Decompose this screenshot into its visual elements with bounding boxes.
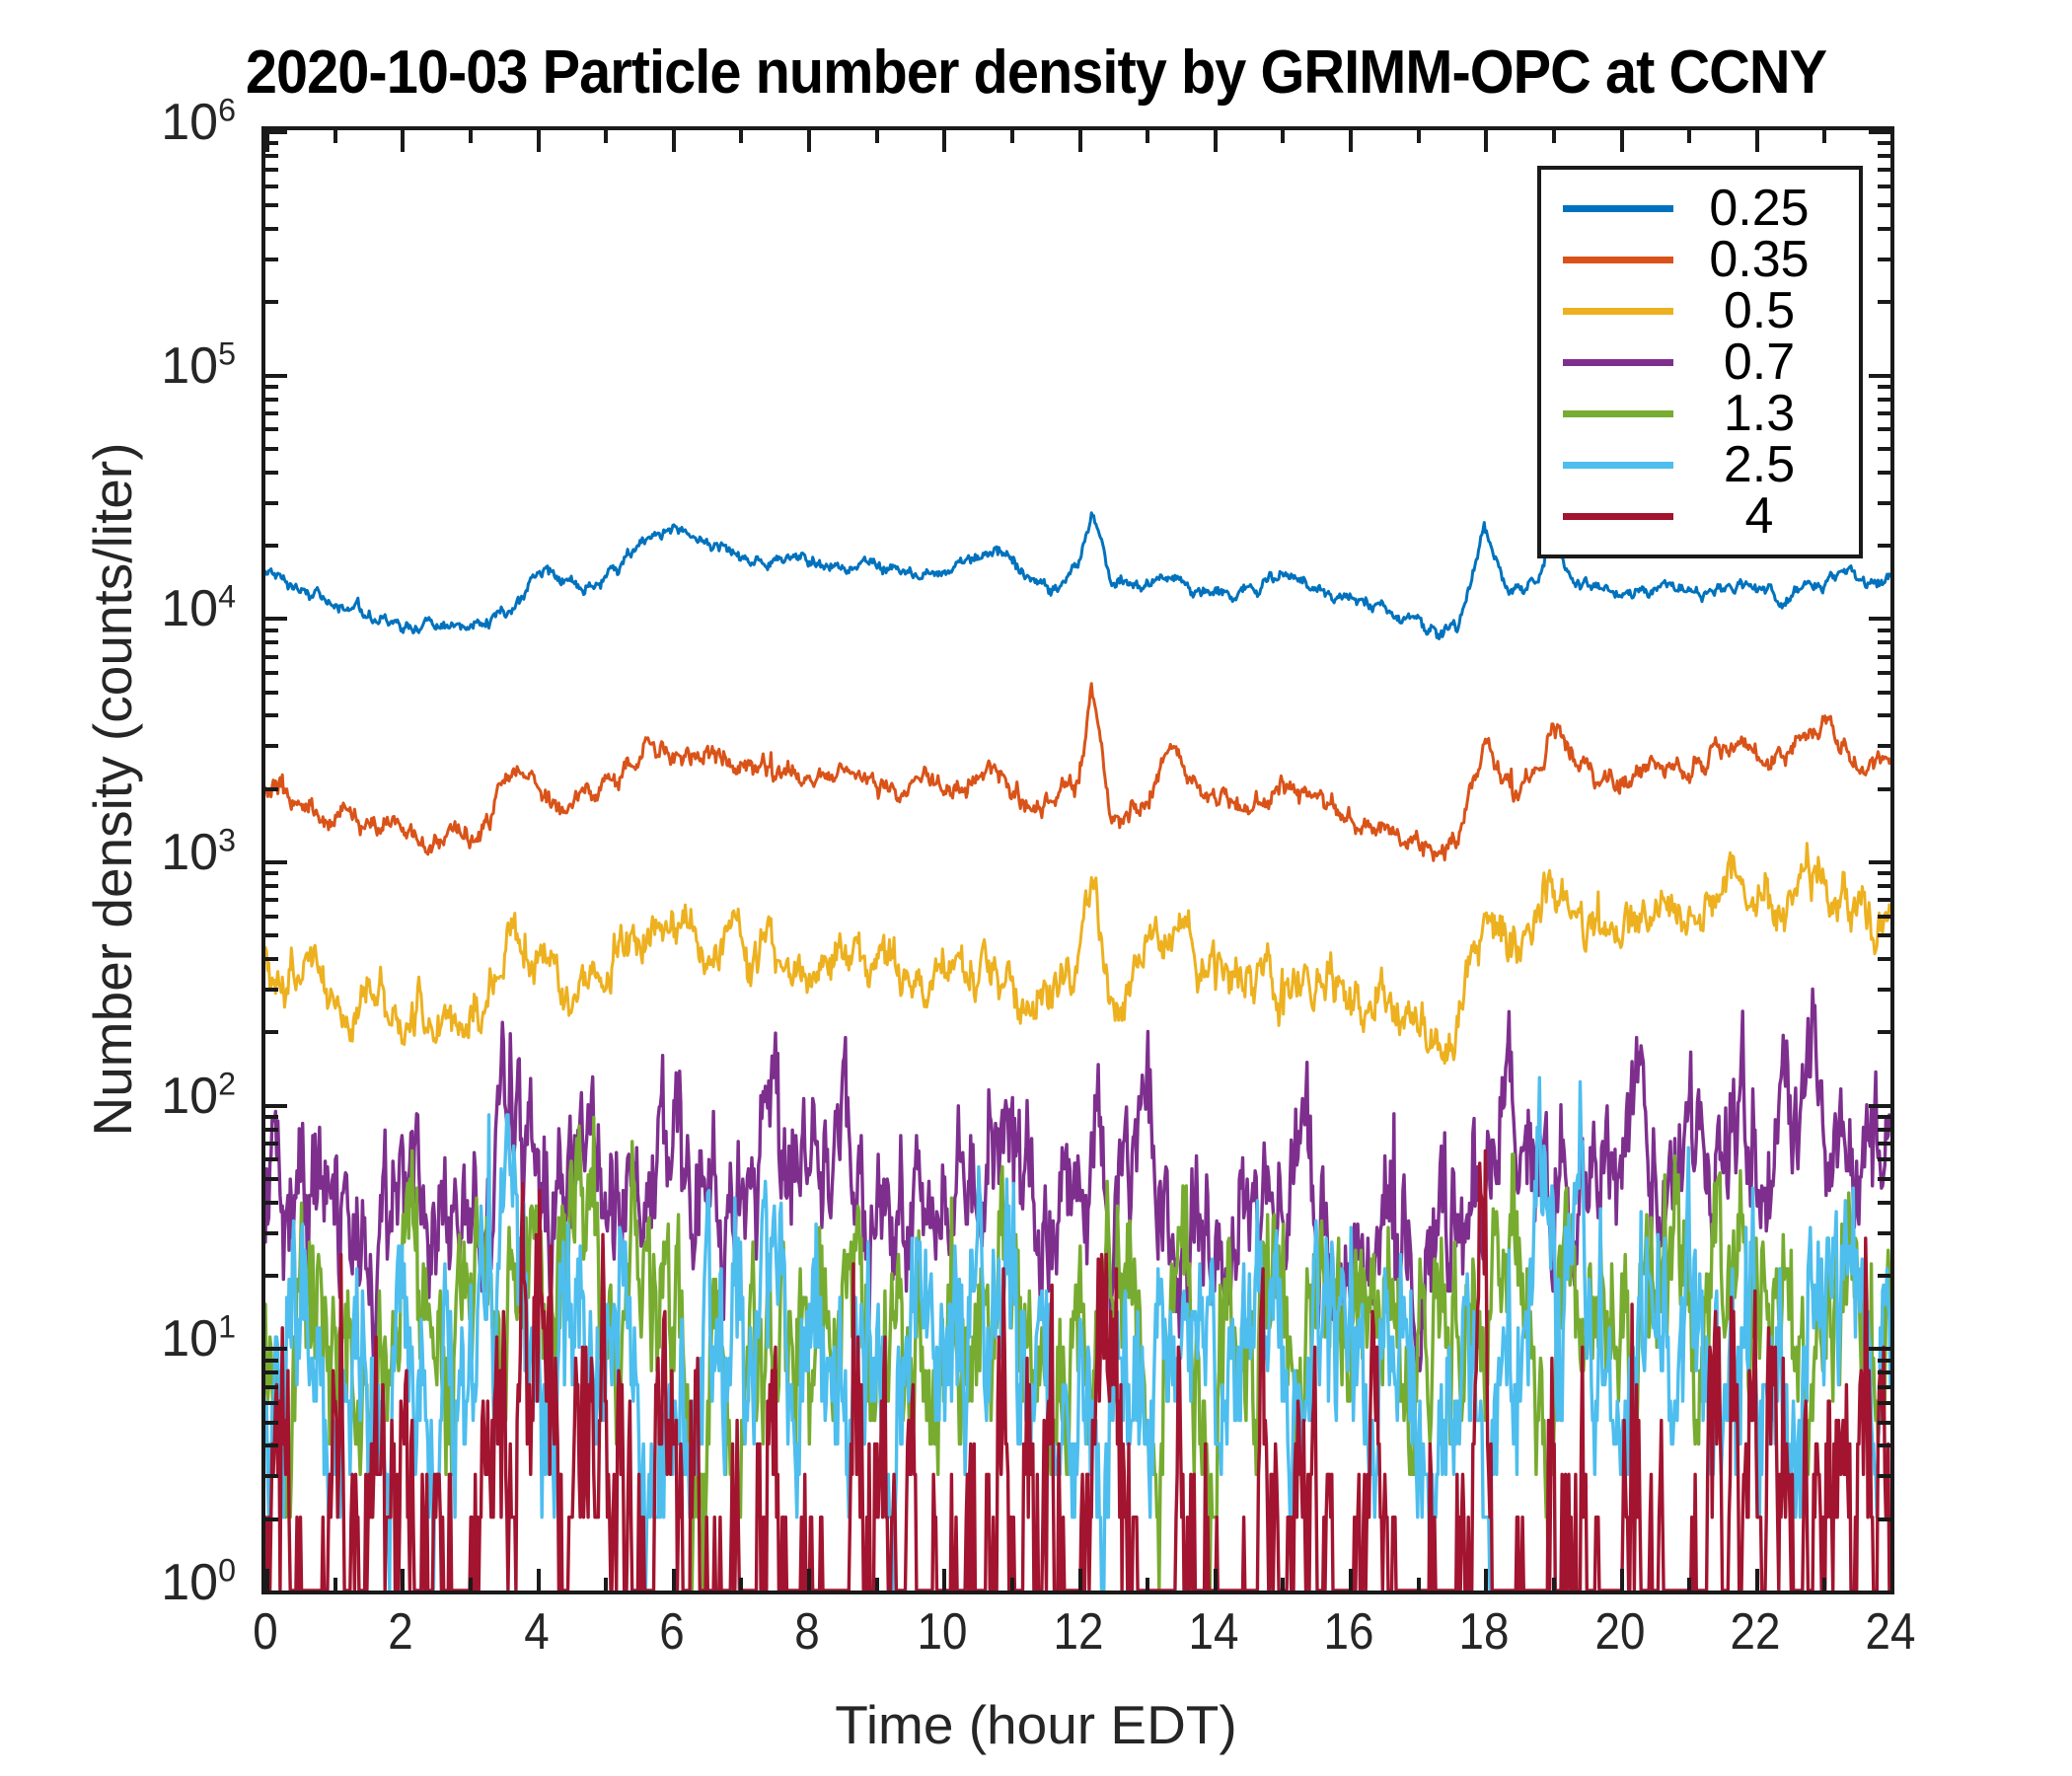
y-minor-tick — [265, 988, 278, 992]
legend-label: 0.5 — [1673, 285, 1859, 336]
x-tick-label-4: 4 — [484, 1606, 589, 1658]
y-minor-tick-right — [1878, 1401, 1890, 1405]
legend-swatch-4 — [1563, 513, 1673, 520]
y-minor-tick-right — [1878, 1157, 1890, 1161]
y-minor-tick-right — [1878, 744, 1890, 748]
y-tick-label-1e6: 106 — [161, 97, 236, 148]
y-minor-tick-right — [1878, 1177, 1890, 1181]
y-minor-tick — [265, 640, 278, 644]
y-minor-tick — [265, 300, 278, 304]
legend-label: 4 — [1673, 490, 1859, 542]
x-tick — [1349, 1569, 1353, 1591]
y-tick-label-1e3: 103 — [161, 827, 236, 878]
y-tick-label-1e5: 105 — [161, 340, 236, 392]
legend-swatch-0-25 — [1563, 205, 1673, 212]
x-tick — [1281, 1578, 1285, 1591]
y-minor-tick — [265, 544, 278, 548]
y-minor-tick-right — [1878, 447, 1890, 451]
y-minor-tick — [265, 185, 278, 188]
legend-label: 0.7 — [1673, 336, 1859, 388]
x-tick-label-6: 6 — [620, 1606, 724, 1658]
y-minor-tick — [265, 427, 278, 431]
y-tick-right — [1869, 860, 1890, 864]
y-minor-tick — [265, 471, 278, 475]
legend-item-2-5[interactable]: 2.5 — [1541, 440, 1859, 489]
y-minor-tick-right — [1878, 471, 1890, 475]
y-minor-tick — [265, 1421, 278, 1425]
y-minor-tick — [265, 385, 278, 389]
y-minor-tick-right — [1878, 1128, 1890, 1132]
x-tick-top — [469, 130, 473, 143]
x-tick-label-24: 24 — [1838, 1606, 1943, 1658]
x-tick — [739, 1578, 743, 1591]
x-tick — [1552, 1578, 1556, 1591]
y-minor-tick — [265, 1370, 278, 1374]
x-tick-top — [1755, 130, 1759, 152]
x-tick — [1078, 1569, 1082, 1591]
y-minor-tick — [265, 1443, 278, 1447]
y-minor-tick — [265, 744, 278, 748]
y-tick — [265, 1104, 287, 1108]
y-minor-tick — [265, 398, 278, 402]
y-minor-tick — [265, 1231, 278, 1235]
y-minor-tick — [265, 203, 278, 207]
x-tick-top — [604, 130, 608, 143]
y-minor-tick — [265, 501, 278, 505]
y-minor-tick — [265, 957, 278, 961]
legend-rows: 0.250.350.50.71.32.54 — [1541, 176, 1859, 549]
y-minor-tick — [265, 411, 278, 415]
y-minor-tick-right — [1878, 168, 1890, 172]
y-minor-tick-right — [1878, 957, 1890, 961]
x-axis-title: Time (hour EDT) — [0, 1693, 2072, 1756]
x-tick-label-2: 2 — [348, 1606, 453, 1658]
y-minor-tick — [265, 154, 278, 158]
y-minor-tick — [265, 1474, 278, 1478]
x-tick — [942, 1569, 946, 1591]
y-minor-tick-right — [1878, 1359, 1890, 1363]
y-minor-tick — [265, 1157, 278, 1161]
legend-swatch-0-35 — [1563, 257, 1673, 263]
y-tick — [265, 860, 287, 864]
y-minor-tick — [265, 1142, 278, 1146]
y-minor-tick — [265, 1517, 278, 1521]
y-tick-right — [1869, 1347, 1890, 1351]
x-tick — [672, 1569, 676, 1591]
x-tick — [401, 1569, 405, 1591]
x-tick-top — [1484, 130, 1488, 152]
x-tick-top — [1214, 130, 1218, 152]
x-tick-label-10: 10 — [890, 1606, 995, 1658]
x-tick — [604, 1578, 608, 1591]
legend-label: 2.5 — [1673, 439, 1859, 490]
legend-item-1-3[interactable]: 1.3 — [1541, 389, 1859, 438]
x-tick-top — [1687, 130, 1691, 143]
x-tick-top — [333, 130, 337, 143]
y-minor-tick-right — [1878, 1142, 1890, 1146]
y-tick-label-1e1: 101 — [161, 1313, 236, 1365]
x-tick-top — [1078, 130, 1082, 152]
legend-label: 1.3 — [1673, 388, 1859, 439]
y-minor-tick — [265, 168, 278, 172]
y-minor-tick-right — [1878, 398, 1890, 402]
x-tick-top — [875, 130, 879, 143]
y-minor-tick-right — [1878, 884, 1890, 888]
x-tick — [875, 1578, 879, 1591]
legend[interactable]: 0.250.350.50.71.32.54 — [1537, 166, 1863, 558]
x-tick-top — [942, 130, 946, 152]
x-tick — [1755, 1569, 1759, 1591]
y-minor-tick-right — [1878, 671, 1890, 675]
y-tick — [265, 1591, 287, 1594]
y-axis-title: Number density (counts/liter) — [81, 296, 144, 1283]
y-minor-tick — [265, 258, 278, 261]
y-minor-tick — [265, 898, 278, 902]
figure-canvas: 2020-10-03 Particle number density by GR… — [0, 0, 2072, 1776]
x-tick-label-12: 12 — [1026, 1606, 1131, 1658]
y-minor-tick-right — [1878, 1385, 1890, 1389]
y-tick-right — [1869, 1104, 1890, 1108]
y-minor-tick-right — [1878, 915, 1890, 919]
legend-swatch-2-5 — [1563, 462, 1673, 469]
x-tick-label-8: 8 — [755, 1606, 859, 1658]
x-tick-top — [672, 130, 676, 152]
x-tick — [469, 1578, 473, 1591]
x-tick-top — [1890, 130, 1894, 152]
y-minor-tick — [265, 884, 278, 888]
x-tick-top — [807, 130, 811, 152]
y-minor-tick-right — [1878, 988, 1890, 992]
x-tick — [1010, 1578, 1014, 1591]
y-minor-tick — [265, 871, 278, 875]
y-minor-tick-right — [1878, 427, 1890, 431]
y-minor-tick-right — [1878, 933, 1890, 937]
y-tick — [265, 617, 287, 621]
legend-item-0-25[interactable]: 0.25 — [1541, 184, 1859, 233]
y-minor-tick — [265, 1401, 278, 1405]
x-tick — [1214, 1569, 1218, 1591]
y-minor-tick — [265, 1385, 278, 1389]
legend-swatch-0-7 — [1563, 359, 1673, 366]
y-tick-right — [1869, 617, 1890, 621]
legend-swatch-1-3 — [1563, 410, 1673, 417]
y-minor-tick-right — [1878, 871, 1890, 875]
x-tick — [807, 1569, 811, 1591]
y-minor-tick-right — [1878, 1231, 1890, 1235]
series-line-0-5 — [265, 844, 1890, 1064]
legend-label: 0.35 — [1673, 234, 1859, 285]
y-minor-tick-right — [1878, 385, 1890, 389]
y-minor-tick-right — [1878, 501, 1890, 505]
legend-item-4[interactable]: 4 — [1541, 491, 1859, 541]
y-minor-tick — [265, 933, 278, 937]
y-tick-label-1e0: 100 — [161, 1557, 236, 1608]
x-tick-top — [401, 130, 405, 152]
x-tick-top — [1281, 130, 1285, 143]
y-minor-tick-right — [1878, 1517, 1890, 1521]
x-tick — [1890, 1569, 1894, 1591]
y-minor-tick-right — [1878, 787, 1890, 791]
x-tick-top — [1417, 130, 1421, 143]
legend-swatch-0-5 — [1563, 308, 1673, 315]
x-tick — [333, 1578, 337, 1591]
y-tick-label-1e4: 104 — [161, 583, 236, 634]
x-tick-label-14: 14 — [1161, 1606, 1266, 1658]
y-minor-tick-right — [1878, 640, 1890, 644]
y-minor-tick-right — [1878, 141, 1890, 145]
y-minor-tick — [265, 671, 278, 675]
x-tick — [1687, 1578, 1691, 1591]
y-minor-tick-right — [1878, 1421, 1890, 1425]
y-minor-tick — [265, 1115, 278, 1119]
y-minor-tick — [265, 691, 278, 695]
y-tick-right — [1869, 130, 1890, 134]
y-tick-label-1e2: 102 — [161, 1071, 236, 1122]
y-minor-tick-right — [1878, 629, 1890, 632]
x-tick — [1417, 1578, 1421, 1591]
y-minor-tick-right — [1878, 203, 1890, 207]
x-tick-top — [1146, 130, 1149, 143]
x-tick — [265, 1569, 269, 1591]
x-tick-label-0: 0 — [213, 1606, 318, 1658]
series-line-0-35 — [265, 684, 1890, 861]
y-minor-tick-right — [1878, 1115, 1890, 1119]
y-minor-tick — [265, 655, 278, 659]
y-tick-right — [1869, 374, 1890, 378]
x-tick — [1484, 1569, 1488, 1591]
legend-item-0-35[interactable]: 0.35 — [1541, 235, 1859, 284]
x-tick — [1146, 1578, 1149, 1591]
y-minor-tick-right — [1878, 691, 1890, 695]
y-minor-tick — [265, 1274, 278, 1278]
x-tick-top — [537, 130, 541, 152]
y-minor-tick-right — [1878, 713, 1890, 717]
y-minor-tick — [265, 787, 278, 791]
x-tick-label-20: 20 — [1568, 1606, 1672, 1658]
x-tick-label-18: 18 — [1432, 1606, 1536, 1658]
y-minor-tick — [265, 1177, 278, 1181]
x-tick-top — [1552, 130, 1556, 143]
y-minor-tick — [265, 1128, 278, 1132]
y-minor-tick — [265, 227, 278, 231]
y-tick-right — [1869, 1591, 1890, 1594]
y-minor-tick — [265, 713, 278, 717]
y-tick — [265, 1347, 287, 1351]
y-minor-tick — [265, 629, 278, 632]
y-minor-tick-right — [1878, 1474, 1890, 1478]
y-minor-tick-right — [1878, 300, 1890, 304]
y-minor-tick — [265, 447, 278, 451]
chart-title: 2020-10-03 Particle number density by GR… — [73, 37, 2000, 108]
x-tick-label-16: 16 — [1296, 1606, 1401, 1658]
y-minor-tick-right — [1878, 411, 1890, 415]
y-minor-tick-right — [1878, 1443, 1890, 1447]
x-tick-top — [1822, 130, 1826, 143]
y-tick — [265, 374, 287, 378]
y-minor-tick-right — [1878, 898, 1890, 902]
x-tick-top — [739, 130, 743, 143]
y-minor-tick-right — [1878, 1030, 1890, 1034]
y-minor-tick — [265, 1030, 278, 1034]
x-tick-label-22: 22 — [1703, 1606, 1808, 1658]
x-tick-top — [1620, 130, 1624, 152]
y-minor-tick — [265, 915, 278, 919]
x-tick — [537, 1569, 541, 1591]
x-tick — [1822, 1578, 1826, 1591]
x-tick-top — [1349, 130, 1353, 152]
x-tick — [1620, 1569, 1624, 1591]
y-tick — [265, 130, 287, 134]
y-minor-tick-right — [1878, 258, 1890, 261]
y-minor-tick-right — [1878, 1274, 1890, 1278]
y-minor-tick — [265, 1201, 278, 1205]
legend-item-0-7[interactable]: 0.7 — [1541, 337, 1859, 387]
y-minor-tick-right — [1878, 227, 1890, 231]
y-minor-tick-right — [1878, 655, 1890, 659]
legend-item-0-5[interactable]: 0.5 — [1541, 286, 1859, 335]
y-minor-tick-right — [1878, 185, 1890, 188]
x-tick-top — [1010, 130, 1014, 143]
y-minor-tick-right — [1878, 544, 1890, 548]
y-minor-tick-right — [1878, 1201, 1890, 1205]
y-minor-tick-right — [1878, 1370, 1890, 1374]
y-minor-tick-right — [1878, 154, 1890, 158]
legend-label: 0.25 — [1673, 183, 1859, 234]
y-minor-tick — [265, 1359, 278, 1363]
y-minor-tick — [265, 141, 278, 145]
